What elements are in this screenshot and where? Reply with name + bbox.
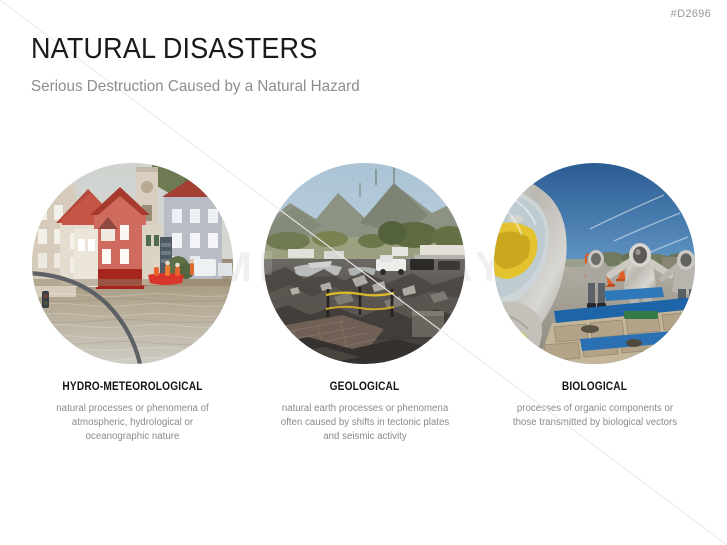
- card-description-geological: natural earth processes or phenomena oft…: [257, 402, 473, 443]
- destroyed-site-illustration: [264, 163, 465, 364]
- card-title-hydro-meteorological: HYDRO-METEOROLOGICAL: [44, 381, 221, 393]
- card-description-hydro-meteorological: natural processes or phenomena of atmosp…: [32, 402, 233, 443]
- card-geological[interactable]: GEOLOGICAL natural earth processes or ph…: [264, 163, 465, 443]
- flood-scene-illustration: [32, 163, 233, 364]
- page-title: NATURAL DISASTERS: [31, 33, 317, 66]
- card-biological[interactable]: BIOLOGICAL processes of organic componen…: [494, 163, 695, 430]
- slide-canvas: MEDIA DAY #D2696 NATURAL DISASTERS Serio…: [0, 0, 727, 545]
- circle-image-hydro-meteorological: [32, 163, 233, 364]
- page-subtitle: Serious Destruction Caused by a Natural …: [31, 78, 360, 96]
- card-description-biological: processes of organic components or those…: [480, 402, 710, 430]
- circle-image-geological: [264, 163, 465, 364]
- circle-image-biological: [494, 163, 695, 364]
- card-hydro-meteorological[interactable]: HYDRO-METEOROLOGICAL natural processes o…: [32, 163, 233, 443]
- document-id-label: #D2696: [671, 8, 711, 20]
- card-title-geological: GEOLOGICAL: [276, 381, 453, 393]
- hazmat-team-illustration: [494, 163, 695, 364]
- card-title-biological: BIOLOGICAL: [506, 381, 683, 393]
